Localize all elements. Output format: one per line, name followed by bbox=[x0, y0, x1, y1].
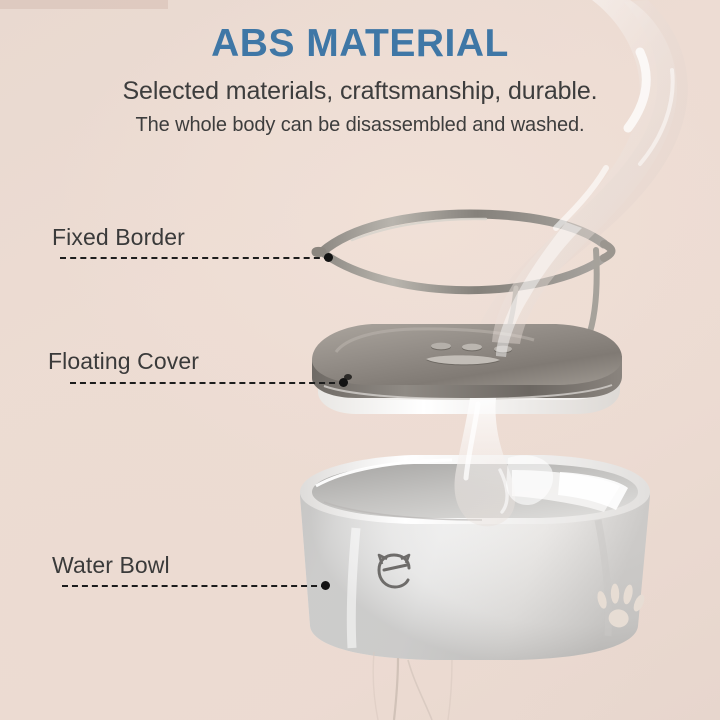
callout-water-bowl: Water Bowl bbox=[52, 552, 170, 579]
callout-endpoint-dot bbox=[339, 378, 348, 387]
floating-cover bbox=[312, 324, 622, 414]
callout-leader-line bbox=[60, 257, 330, 259]
callout-floating-cover: Floating Cover bbox=[48, 348, 199, 375]
callout-endpoint-dot bbox=[324, 253, 333, 262]
callout-fixed-border: Fixed Border bbox=[52, 224, 185, 251]
subtitle-line-2: The whole body can be disassembled and w… bbox=[0, 114, 720, 137]
water-bowl bbox=[300, 455, 650, 660]
page-title: ABS MATERIAL bbox=[0, 22, 720, 66]
subtitle-line-1: Selected materials, craftsmanship, durab… bbox=[0, 77, 720, 106]
fixed-border-frame bbox=[316, 214, 612, 338]
header-block: ABS MATERIAL Selected materials, craftsm… bbox=[0, 0, 720, 137]
callout-label-water-bowl: Water Bowl bbox=[52, 552, 170, 579]
callout-leader-line bbox=[62, 585, 327, 587]
callout-leader-line bbox=[70, 382, 345, 384]
callout-label-fixed-border: Fixed Border bbox=[52, 224, 185, 251]
callout-endpoint-dot bbox=[321, 581, 330, 590]
callout-label-floating-cover: Floating Cover bbox=[48, 348, 199, 375]
